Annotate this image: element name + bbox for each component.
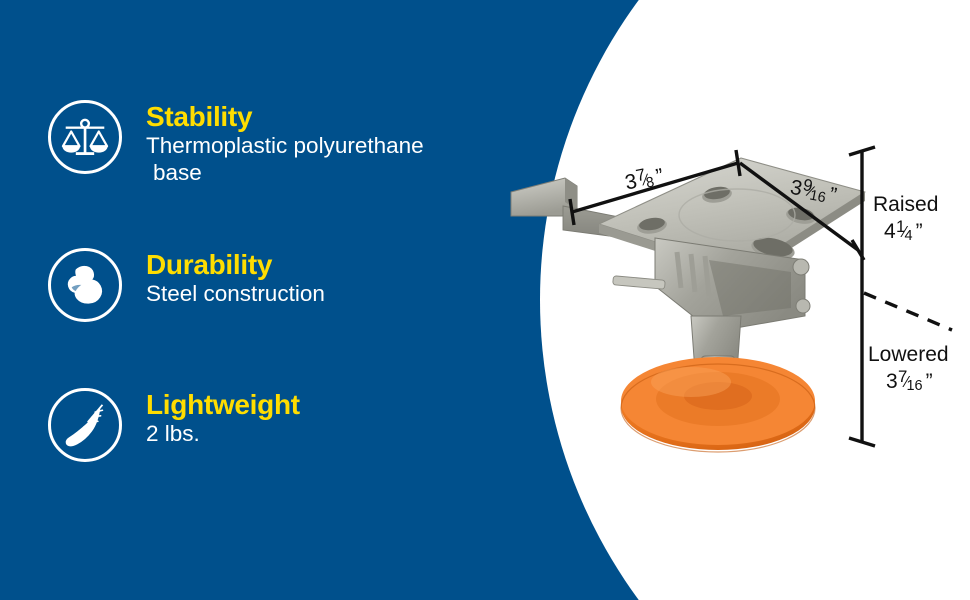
- width-fraction: 7⁄8: [635, 168, 658, 191]
- feature-body: Thermoplastic polyurethane base: [146, 133, 424, 186]
- balance-scale-icon: [48, 100, 122, 174]
- lowered-whole: 3: [886, 370, 898, 393]
- feature-item-lightweight: Lightweight 2 lbs.: [48, 388, 300, 462]
- feature-body-line2: base: [146, 160, 424, 187]
- tpu-base: [621, 357, 815, 452]
- raised-fraction: 1⁄4: [896, 222, 916, 242]
- feature-item-stability: Stability Thermoplastic polyurethane bas…: [48, 100, 424, 186]
- feature-body-line1: 2 lbs.: [146, 421, 200, 446]
- feature-list: Stability Thermoplastic polyurethane bas…: [0, 0, 520, 600]
- feature-text-lightweight: Lightweight 2 lbs.: [146, 388, 300, 448]
- raised-value: 41⁄4”: [884, 220, 923, 244]
- raised-unit: ”: [916, 220, 923, 243]
- product-image: [505, 120, 925, 480]
- lowered-value: 37⁄16”: [886, 370, 933, 394]
- lowered-label: Lowered: [868, 343, 949, 367]
- flexed-bicep-icon: [48, 248, 122, 322]
- feature-body-line1: Thermoplastic polyurethane: [146, 133, 424, 158]
- infographic-canvas: Stability Thermoplastic polyurethane bas…: [0, 0, 970, 600]
- lowered-unit: ”: [926, 370, 933, 393]
- feature-heading: Stability: [146, 102, 424, 132]
- feature-text-durability: Durability Steel construction: [146, 248, 325, 308]
- feature-heading: Durability: [146, 250, 325, 280]
- feature-item-durability: Durability Steel construction: [48, 248, 325, 322]
- lowered-fraction: 7⁄16: [898, 372, 926, 392]
- depth-fraction: 9⁄16: [800, 180, 831, 205]
- feature-body: 2 lbs.: [146, 421, 300, 448]
- raised-label: Raised: [873, 193, 938, 217]
- feature-heading: Lightweight: [146, 390, 300, 420]
- feature-text-stability: Stability Thermoplastic polyurethane bas…: [146, 100, 424, 186]
- feather-icon: [48, 388, 122, 462]
- feature-body: Steel construction: [146, 281, 325, 308]
- raised-whole: 4: [884, 220, 896, 243]
- feature-body-line1: Steel construction: [146, 281, 325, 306]
